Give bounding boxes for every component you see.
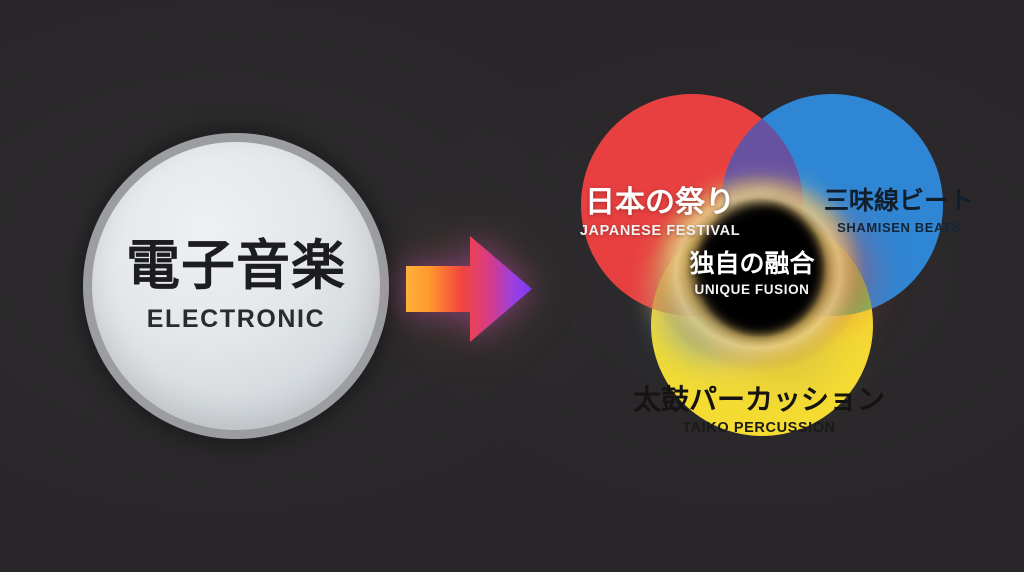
source-title-english: ELECTRONIC — [147, 305, 326, 334]
fusion-venn-diagram — [512, 60, 1012, 520]
electronic-source-circle: 電子音楽 ELECTRONIC — [83, 133, 389, 439]
source-title-japanese: 電子音楽 — [126, 238, 346, 295]
diagram-canvas: 電子音楽 ELECTRONIC — [0, 0, 1024, 572]
